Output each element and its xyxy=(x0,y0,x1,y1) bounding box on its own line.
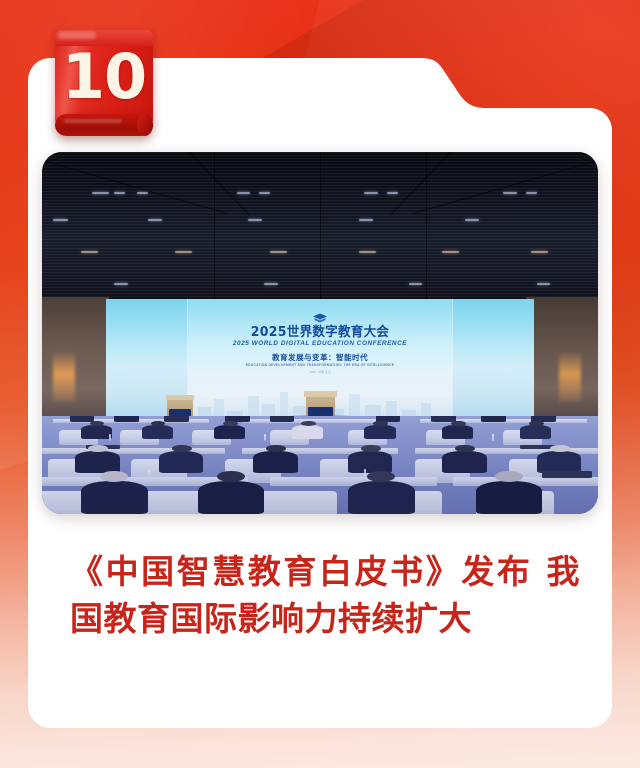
news-headline: 《中国智慧教育白皮书》发布 我国教育国际影响力持续扩大 xyxy=(70,548,580,642)
conference-hall-photo: 2025世界数字教育大会 2025 WORLD DIGITAL EDUCATIO… xyxy=(42,152,598,514)
rank-badge-highlight xyxy=(58,32,96,39)
photo-scene: 2025世界数字教育大会 2025 WORLD DIGITAL EDUCATIO… xyxy=(42,152,598,514)
rank-badge-roll-highlight xyxy=(64,119,122,123)
audience-area xyxy=(42,416,598,514)
led-date-line: 2025 · 中国 武汉 xyxy=(106,371,534,375)
hall-ceiling xyxy=(42,152,598,311)
wall-light-left xyxy=(53,351,75,402)
led-text-block: 2025世界数字教育大会 2025 WORLD DIGITAL EDUCATIO… xyxy=(106,311,534,375)
led-subtitle-en: EDUCATION DEVELOPMENT AND TRANSFORMATION… xyxy=(106,363,534,368)
wall-light-right xyxy=(559,351,581,402)
conference-emblem-icon xyxy=(311,311,329,323)
hall-wall-left xyxy=(42,297,109,420)
led-subtitle-cn: 教育发展与变革：智能时代 xyxy=(106,353,534,363)
rank-badge-body: 10 xyxy=(55,30,153,122)
led-title-en: 2025 WORLD DIGITAL EDUCATION CONFERENCE xyxy=(106,339,534,348)
rank-badge-number: 10 xyxy=(55,40,153,114)
rank-badge-roll-cap xyxy=(137,114,153,136)
rank-badge: 10 xyxy=(55,30,153,142)
news-card-poster: 10 xyxy=(0,0,640,768)
led-title-cn: 2025世界数字教育大会 xyxy=(106,324,534,339)
